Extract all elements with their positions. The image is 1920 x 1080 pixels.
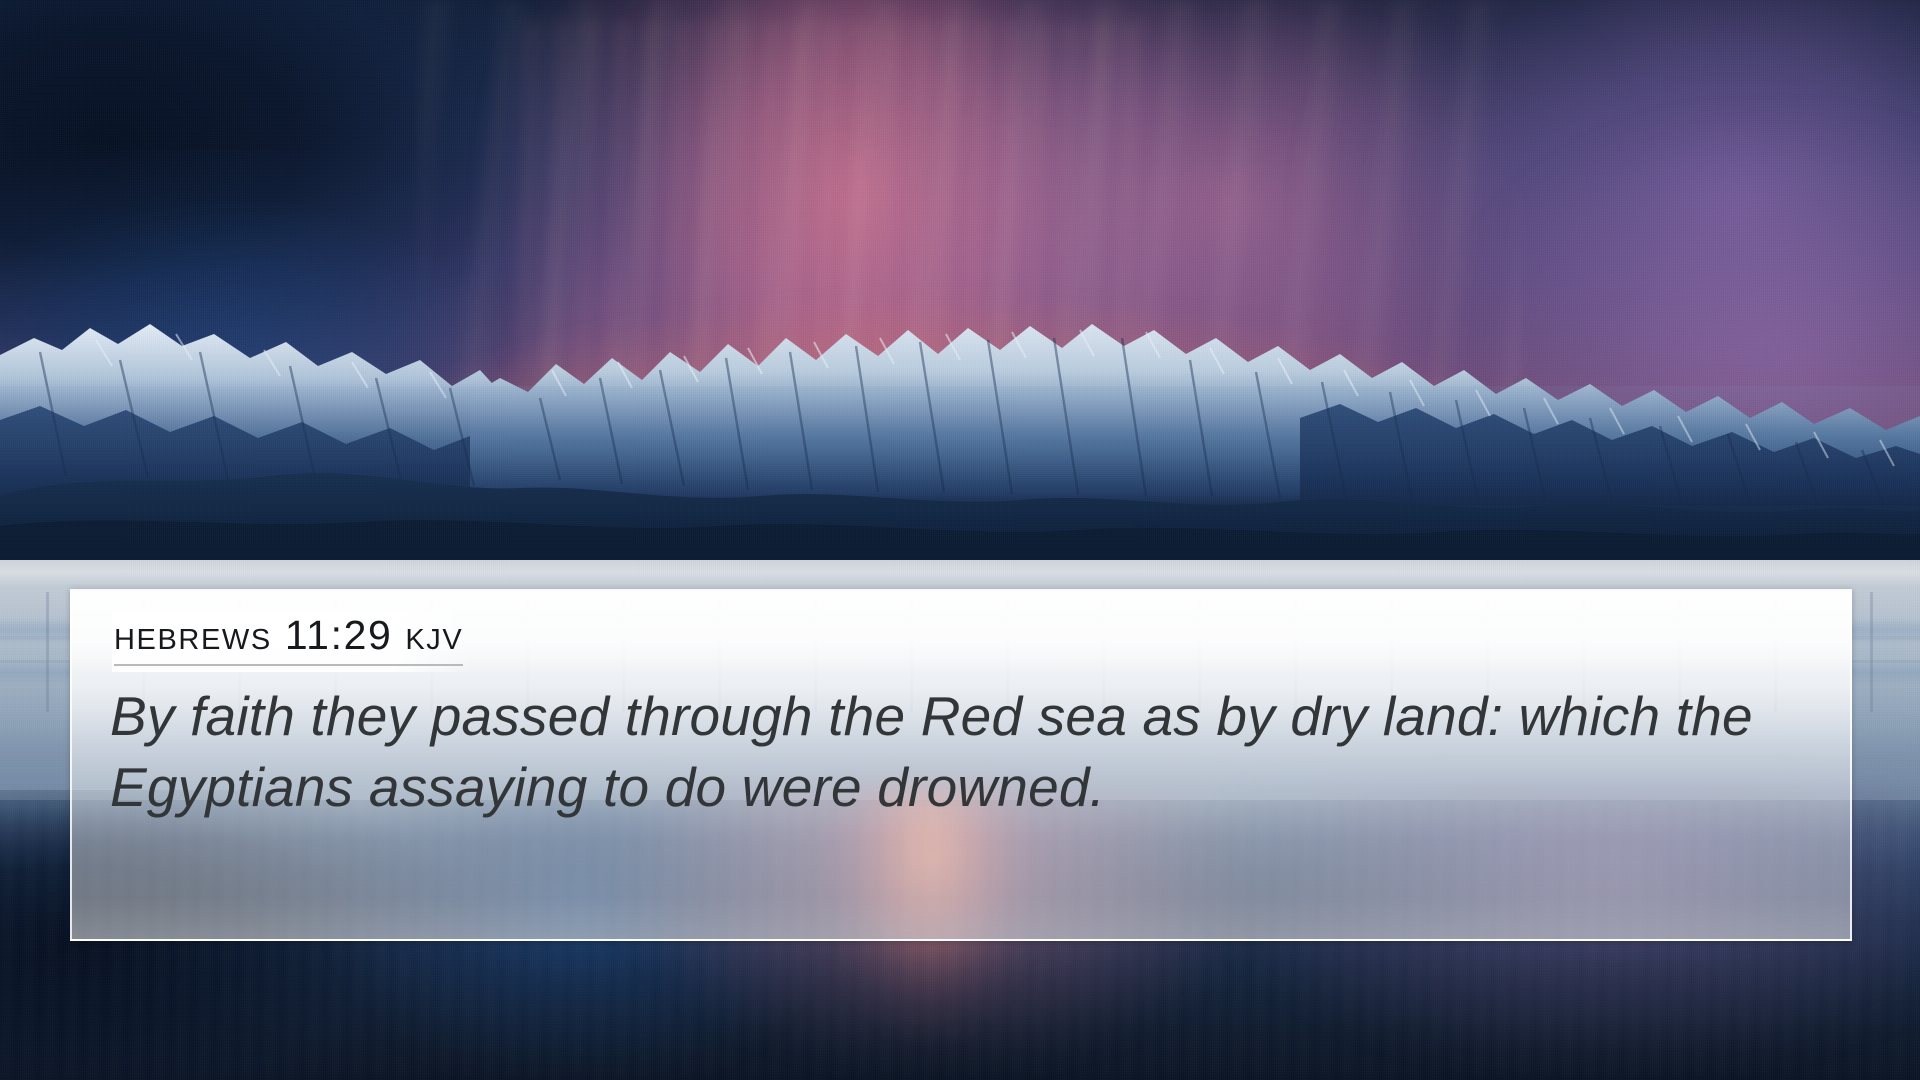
wallpaper-canvas: 🠚 bbox=[0, 0, 1920, 1080]
verse-text: By faith they passed through the Red sea… bbox=[110, 681, 1810, 823]
foreground-hills bbox=[0, 430, 1920, 570]
verse-reference: Hebrews 11:29 KJV bbox=[114, 613, 463, 666]
verse-reference-highlight: Hebrews 11:29 KJV bbox=[112, 611, 473, 672]
bird-silhouette-icon: 🠚 bbox=[283, 62, 299, 73]
verse-card: Hebrews 11:29 KJV By faith they passed t… bbox=[70, 589, 1852, 941]
